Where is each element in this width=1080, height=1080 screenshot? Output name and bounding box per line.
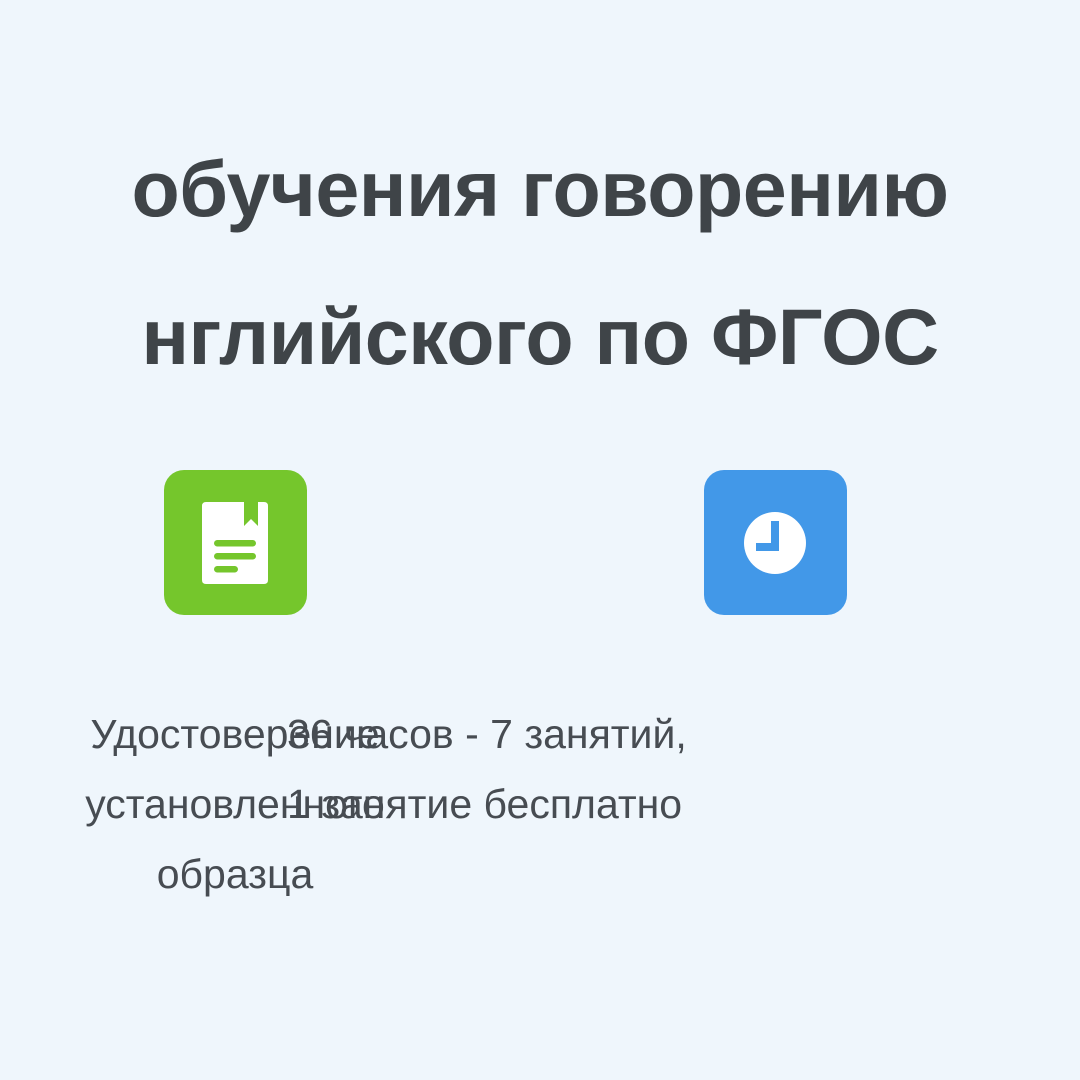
page-title-line-1: обучения говорению <box>0 115 1080 263</box>
page-title-line-2: нглийского по ФГОС <box>0 263 1080 411</box>
feature-duration-caption-line-2: 1 занятие бесплатно <box>287 769 1080 839</box>
feature-duration: 36 часов - 7 занятий, 1 занятие бесплатн… <box>470 470 1080 839</box>
feature-duration-caption-line-1: 36 часов - 7 занятий, <box>287 699 1080 769</box>
feature-duration-caption: 36 часов - 7 занятий, 1 занятие бесплатн… <box>287 699 1080 839</box>
page-root: обучения говорению нглийского по ФГОС Уд… <box>0 0 1080 1080</box>
features-row: Удостоверение установленного образца 36 … <box>0 470 1080 909</box>
feature-certificate: Удостоверение установленного образца <box>0 470 470 909</box>
clock-icon <box>704 470 847 615</box>
page-title: обучения говорению нглийского по ФГОС <box>0 115 1080 411</box>
document-certificate-icon <box>164 470 307 615</box>
feature-certificate-caption-line-3: образца <box>85 839 385 909</box>
